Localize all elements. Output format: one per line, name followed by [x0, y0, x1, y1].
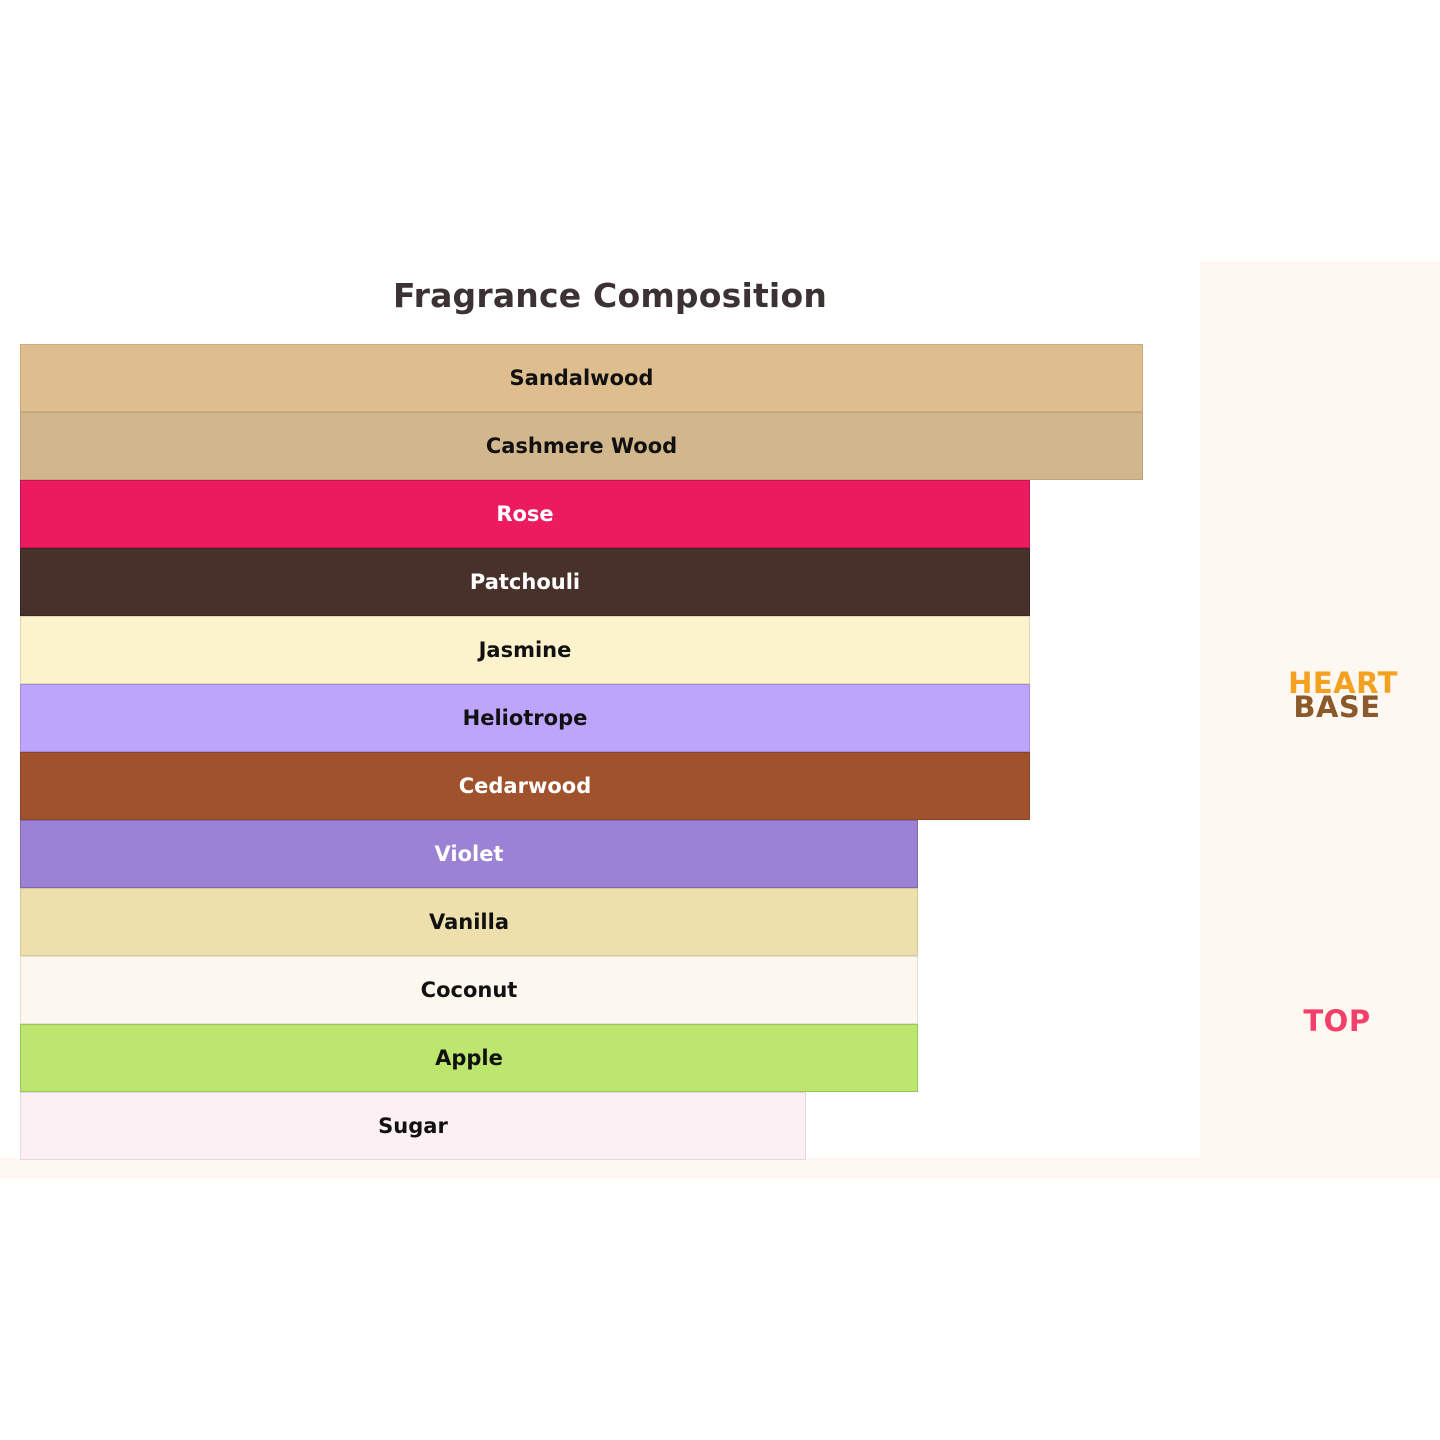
bar-label: Violet: [21, 844, 917, 865]
bar-violet[interactable]: Violet: [20, 820, 918, 888]
bar-cedarwood[interactable]: Cedarwood: [20, 752, 1030, 820]
bar-apple[interactable]: Apple: [20, 1024, 918, 1092]
bar-label: Heliotrope: [21, 708, 1029, 729]
bar-label: Jasmine: [21, 640, 1029, 661]
bar-rose[interactable]: Rose: [20, 480, 1030, 548]
bar-series: SandalwoodCashmere WoodRosePatchouliJasm…: [0, 262, 1200, 1158]
bar-label: Sandalwood: [21, 368, 1142, 389]
bar-sandalwood[interactable]: Sandalwood: [20, 344, 1143, 412]
bar-label: Apple: [21, 1048, 917, 1069]
bar-heliotrope[interactable]: Heliotrope: [20, 684, 1030, 752]
bar-label: Cedarwood: [21, 776, 1029, 797]
chart-figure: Fragrance Composition SandalwoodCashmere…: [0, 262, 1440, 1178]
bar-sugar[interactable]: Sugar: [20, 1092, 806, 1160]
bar-label: Sugar: [21, 1116, 805, 1137]
bar-label: Patchouli: [21, 572, 1029, 593]
bar-coconut[interactable]: Coconut: [20, 956, 918, 1024]
bar-label: Cashmere Wood: [21, 436, 1142, 457]
bar-vanilla[interactable]: Vanilla: [20, 888, 918, 956]
bar-jasmine[interactable]: Jasmine: [20, 616, 1030, 684]
bar-label: Rose: [21, 504, 1029, 525]
bar-label: Coconut: [21, 980, 917, 1001]
stage-label-base: BASE: [1240, 690, 1434, 724]
bar-cashmere-wood[interactable]: Cashmere Wood: [20, 412, 1143, 480]
bar-patchouli[interactable]: Patchouli: [20, 548, 1030, 616]
bar-label: Vanilla: [21, 912, 917, 933]
stage-label-top: TOP: [1240, 1004, 1434, 1038]
